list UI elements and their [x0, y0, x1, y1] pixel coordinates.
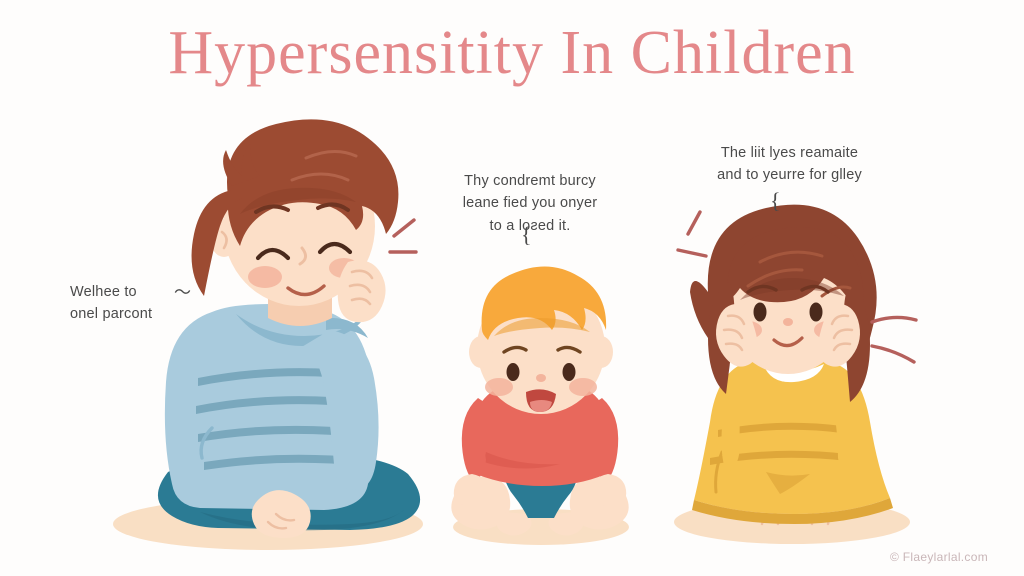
- annotation-right: The liit lyes reamaite and to yeurre for…: [692, 142, 887, 187]
- watermark: © Flaeylarlal.com: [890, 550, 988, 564]
- figure-girl-covering-ears: [690, 205, 893, 524]
- annotation-left: Welhee to onel parcont: [70, 281, 240, 326]
- boy-hand-on-cheek: [338, 260, 386, 322]
- toddler-cheek-right: [569, 378, 597, 396]
- annotation-middle-marker: {: [521, 222, 532, 248]
- girl-nose: [783, 318, 793, 326]
- toddler-eye-right: [563, 363, 576, 381]
- toddler-sleeve-left: [462, 398, 486, 482]
- toddler-sleeve-right: [594, 398, 618, 482]
- toddler-nose: [536, 374, 546, 382]
- toddler-hand-left: [454, 474, 489, 506]
- toddler-ear-right: [589, 336, 613, 368]
- toddler-hand-right: [591, 474, 626, 506]
- girl-eye-right: [810, 303, 823, 322]
- girl-eye-left: [754, 303, 767, 322]
- figure-toddler-worried: [451, 266, 628, 535]
- toddler-eye-left: [507, 363, 520, 381]
- annotation-left-marker: 〜: [174, 278, 191, 303]
- toddler-cheek-left: [485, 378, 513, 396]
- toddler-ear-left: [469, 336, 493, 368]
- page-title: Hypersensitity In Children: [0, 18, 1024, 89]
- figure-boy-hand-on-cheek: [158, 119, 420, 538]
- sound-lines-girl-right: [872, 317, 916, 362]
- illustration-canvas: Hypersensitity In Children Welhee to one…: [0, 0, 1024, 576]
- annotation-right-marker: {: [770, 188, 781, 214]
- sound-lines-boy-right: [390, 220, 416, 252]
- sound-lines-girl-left: [678, 212, 706, 256]
- boy-cheek-left: [248, 266, 282, 288]
